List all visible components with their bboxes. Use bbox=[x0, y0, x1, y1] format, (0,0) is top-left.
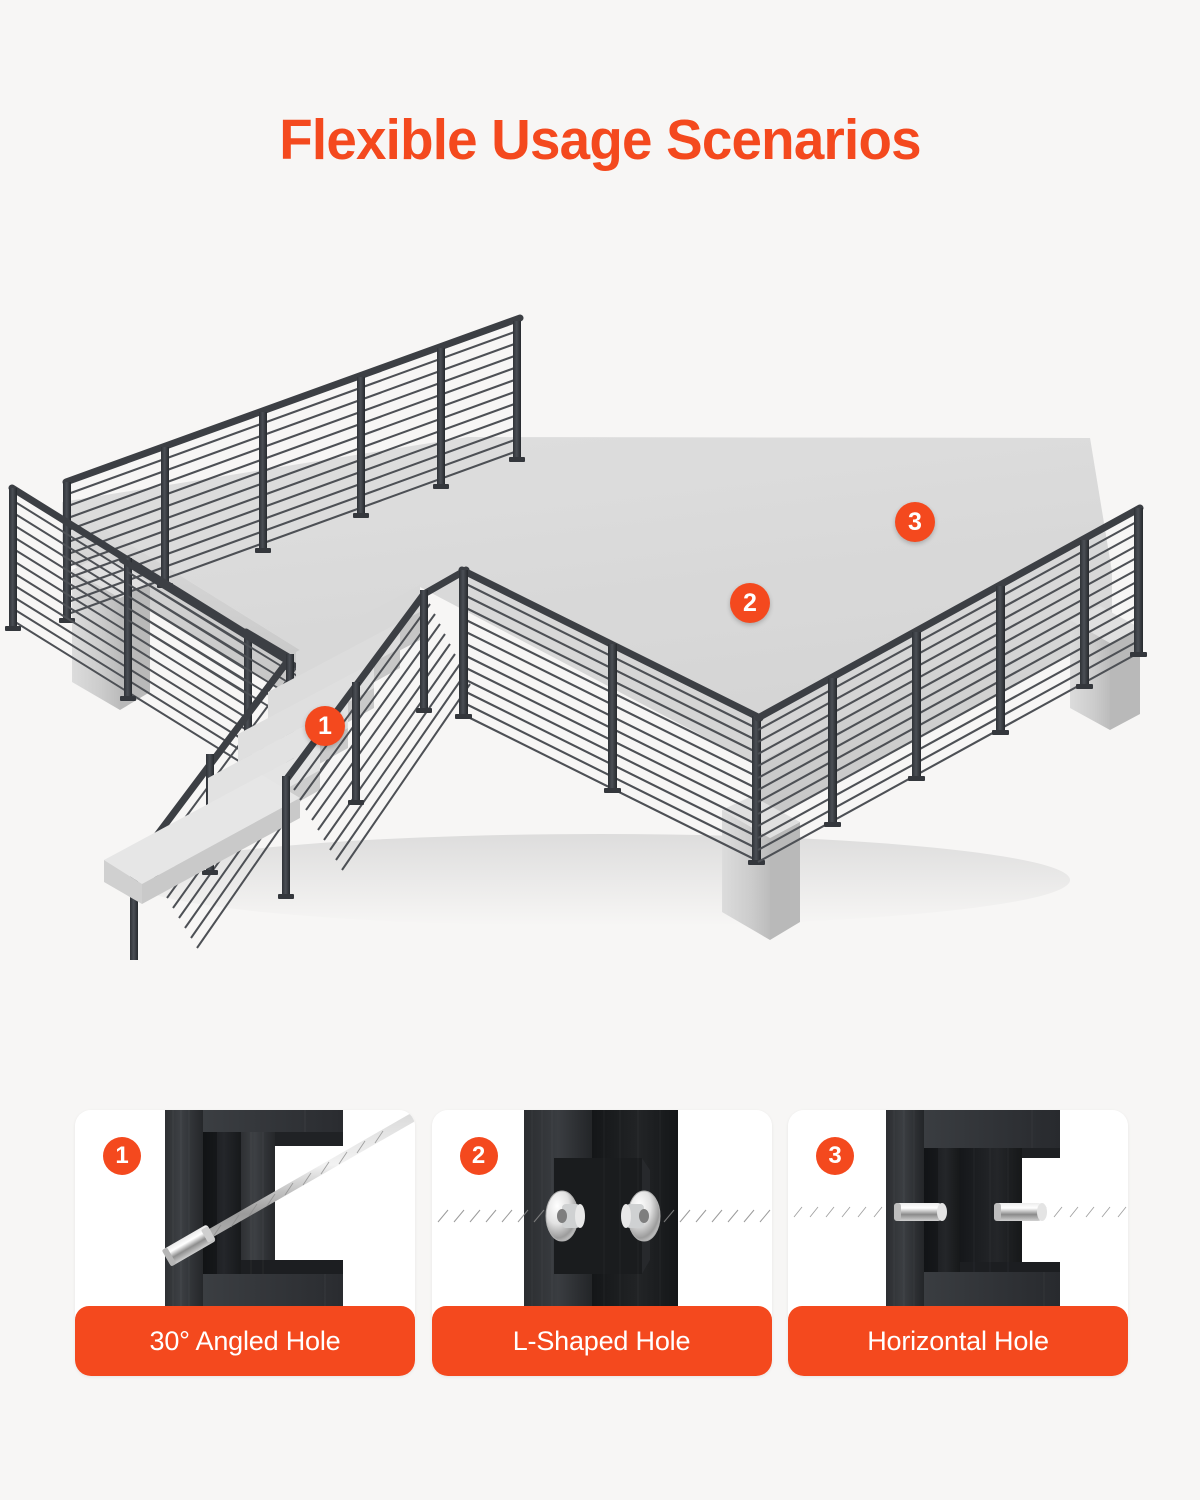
scenario-card-list: 1 30° Angled Hole bbox=[75, 1110, 1128, 1376]
card-badge-1: 1 bbox=[103, 1137, 141, 1175]
hero-callout-1[interactable]: 1 bbox=[305, 706, 345, 746]
scenario-card-1[interactable]: 1 30° Angled Hole bbox=[75, 1110, 415, 1376]
card-badge-2: 2 bbox=[460, 1137, 498, 1175]
card-label-2: L-Shaped Hole bbox=[432, 1306, 772, 1376]
deck-render-svg bbox=[0, 240, 1200, 960]
hero-callout-2[interactable]: 2 bbox=[730, 583, 770, 623]
page-title: Flexible Usage Scenarios bbox=[24, 108, 1176, 174]
card-label-1: 30° Angled Hole bbox=[75, 1306, 415, 1376]
scenario-card-2[interactable]: 2 L-Shaped Hole bbox=[432, 1110, 772, 1376]
ground-shadow bbox=[130, 834, 1070, 926]
card-label-3: Horizontal Hole bbox=[788, 1306, 1128, 1376]
hero-illustration bbox=[0, 240, 1200, 960]
scenario-card-3[interactable]: 3 Horizontal Hole bbox=[788, 1110, 1128, 1376]
card-badge-3: 3 bbox=[816, 1137, 854, 1175]
hero-callout-3[interactable]: 3 bbox=[895, 502, 935, 542]
